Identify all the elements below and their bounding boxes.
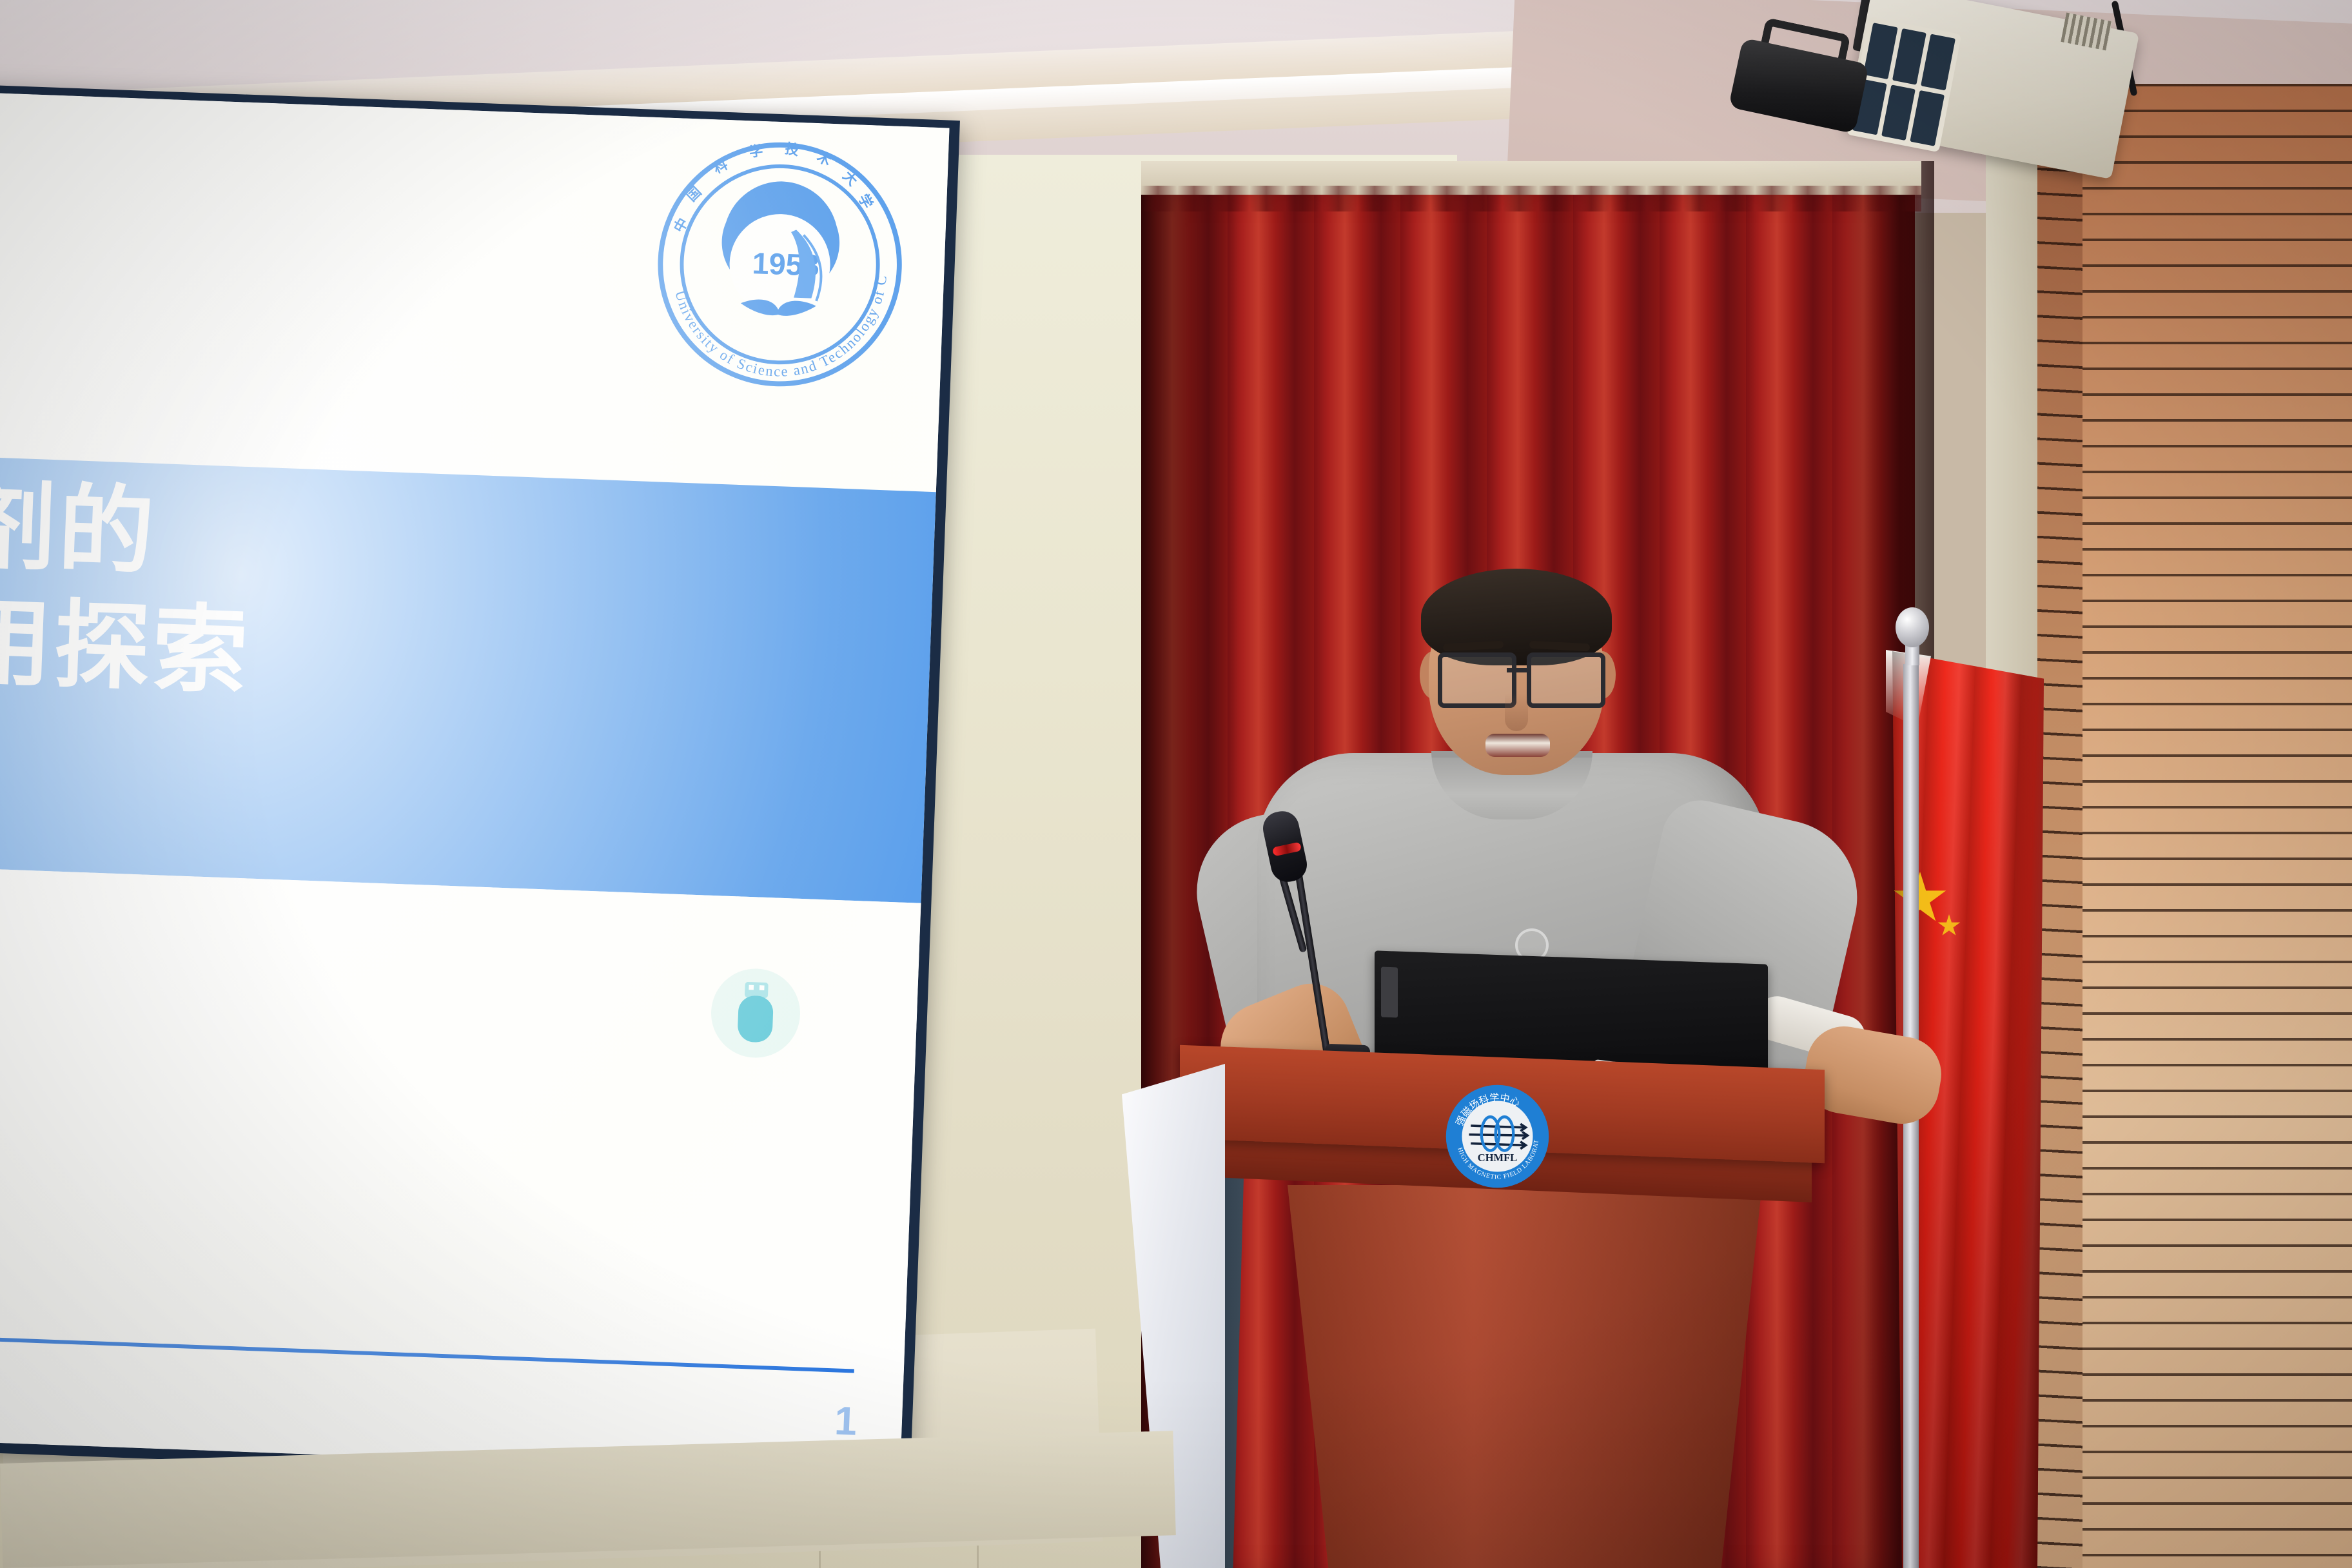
- slide-page-number: 1: [834, 1398, 857, 1444]
- wood-slat-wall-return: [2037, 97, 2089, 1568]
- svg-text:学: 学: [748, 142, 764, 161]
- podium-body-shading: [1267, 1185, 1783, 1568]
- ustc-logo-icon: 1958 中 国 科 学 技 术 大 学 University of Scien…: [650, 134, 910, 395]
- curtain-hooks: [1141, 186, 1921, 211]
- usb-drive-icon: [705, 963, 805, 1063]
- slide-title: 化剂的 应用探索: [0, 453, 574, 901]
- glasses-lens-right: [1527, 652, 1605, 708]
- glasses-bridge: [1507, 668, 1527, 672]
- slide-surface: 1958 中 国 科 学 技 术 大 学 University of Scien…: [0, 92, 950, 1476]
- projection-screen[interactable]: 1958 中 国 科 学 技 术 大 学 University of Scien…: [0, 84, 960, 1487]
- chmfl-acronym: CHMFL: [1478, 1151, 1517, 1164]
- chmfl-emblem-icon: CHMFL 强磁场科学中心 HIGH MAGNETIC FIELD LABORA…: [1444, 1083, 1551, 1190]
- lecture-hall-photo: 1958 中 国 科 学 技 术 大 学 University of Scien…: [0, 0, 2352, 1568]
- laptop-hinge: [1381, 967, 1398, 1018]
- flag-finial: [1896, 607, 1929, 647]
- wood-slat-wall: [2082, 84, 2352, 1568]
- slide-subtitle: 大学: [0, 1106, 299, 1204]
- svg-text:技: 技: [784, 141, 801, 158]
- speaker-mouth: [1485, 734, 1550, 757]
- speaker-nose: [1505, 694, 1528, 731]
